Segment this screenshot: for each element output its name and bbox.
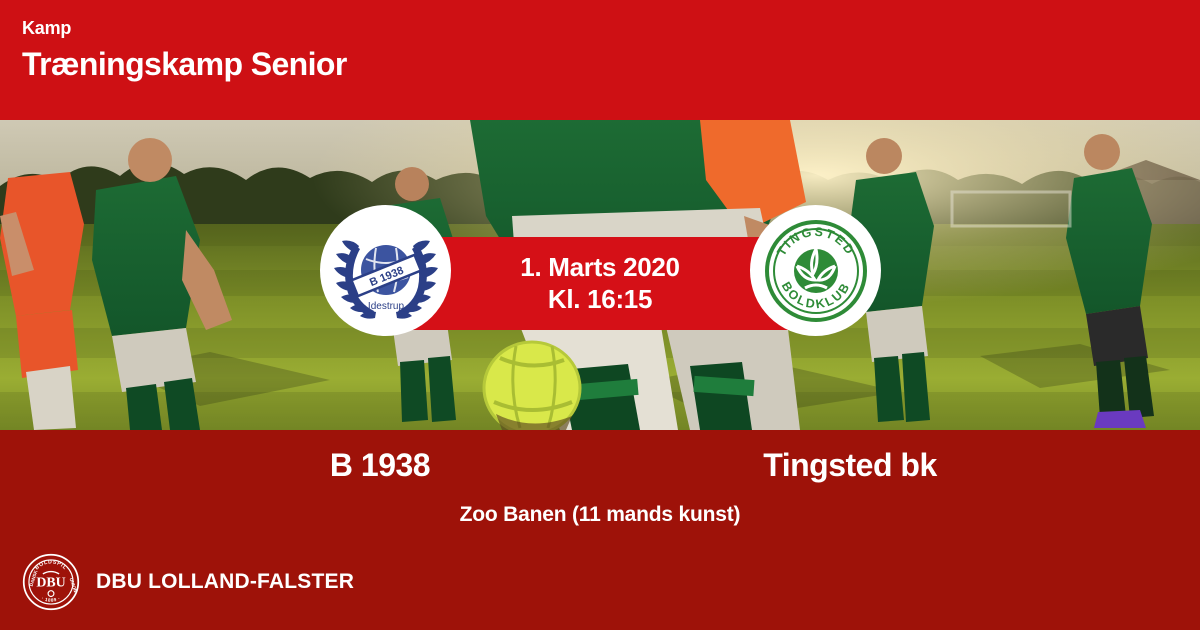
organisation-name: DBU LOLLAND-FALSTER bbox=[96, 570, 354, 594]
b1938-idestrup-crest-icon: B 1938 Idestrup bbox=[330, 215, 442, 327]
football bbox=[484, 342, 580, 430]
match-poster: Kamp Træningskamp Senior bbox=[0, 0, 1200, 630]
crest-club-town: Idestrup bbox=[367, 301, 404, 312]
dbu-monogram: DBU bbox=[36, 576, 65, 591]
footer-branding: BOLDSPIL · 1889 · DANSK UNION DBU DBU LO… bbox=[22, 551, 354, 613]
page-title: Træningskamp Senior bbox=[22, 44, 1200, 84]
tingsted-boldklub-crest-icon: TINGSTED BOLDKLUB bbox=[763, 218, 869, 324]
home-team-name: B 1938 bbox=[145, 447, 615, 484]
match-date: 1. Marts 2020 bbox=[520, 252, 679, 284]
away-team-name: Tingsted bk bbox=[615, 447, 1085, 484]
team-names-row: B 1938 Tingsted bk bbox=[0, 440, 1200, 490]
dbu-logo-icon: BOLDSPIL · 1889 · DANSK UNION DBU bbox=[22, 553, 80, 611]
match-time: Kl. 16:15 bbox=[548, 284, 652, 316]
match-venue: Zoo Banen (11 mands kunst) bbox=[0, 503, 1200, 527]
header-kicker: Kamp bbox=[22, 18, 1200, 40]
away-team-crest[interactable]: TINGSTED BOLDKLUB bbox=[750, 205, 881, 336]
poster-header: Kamp Træningskamp Senior bbox=[0, 0, 1200, 120]
home-team-crest[interactable]: B 1938 Idestrup bbox=[320, 205, 451, 336]
